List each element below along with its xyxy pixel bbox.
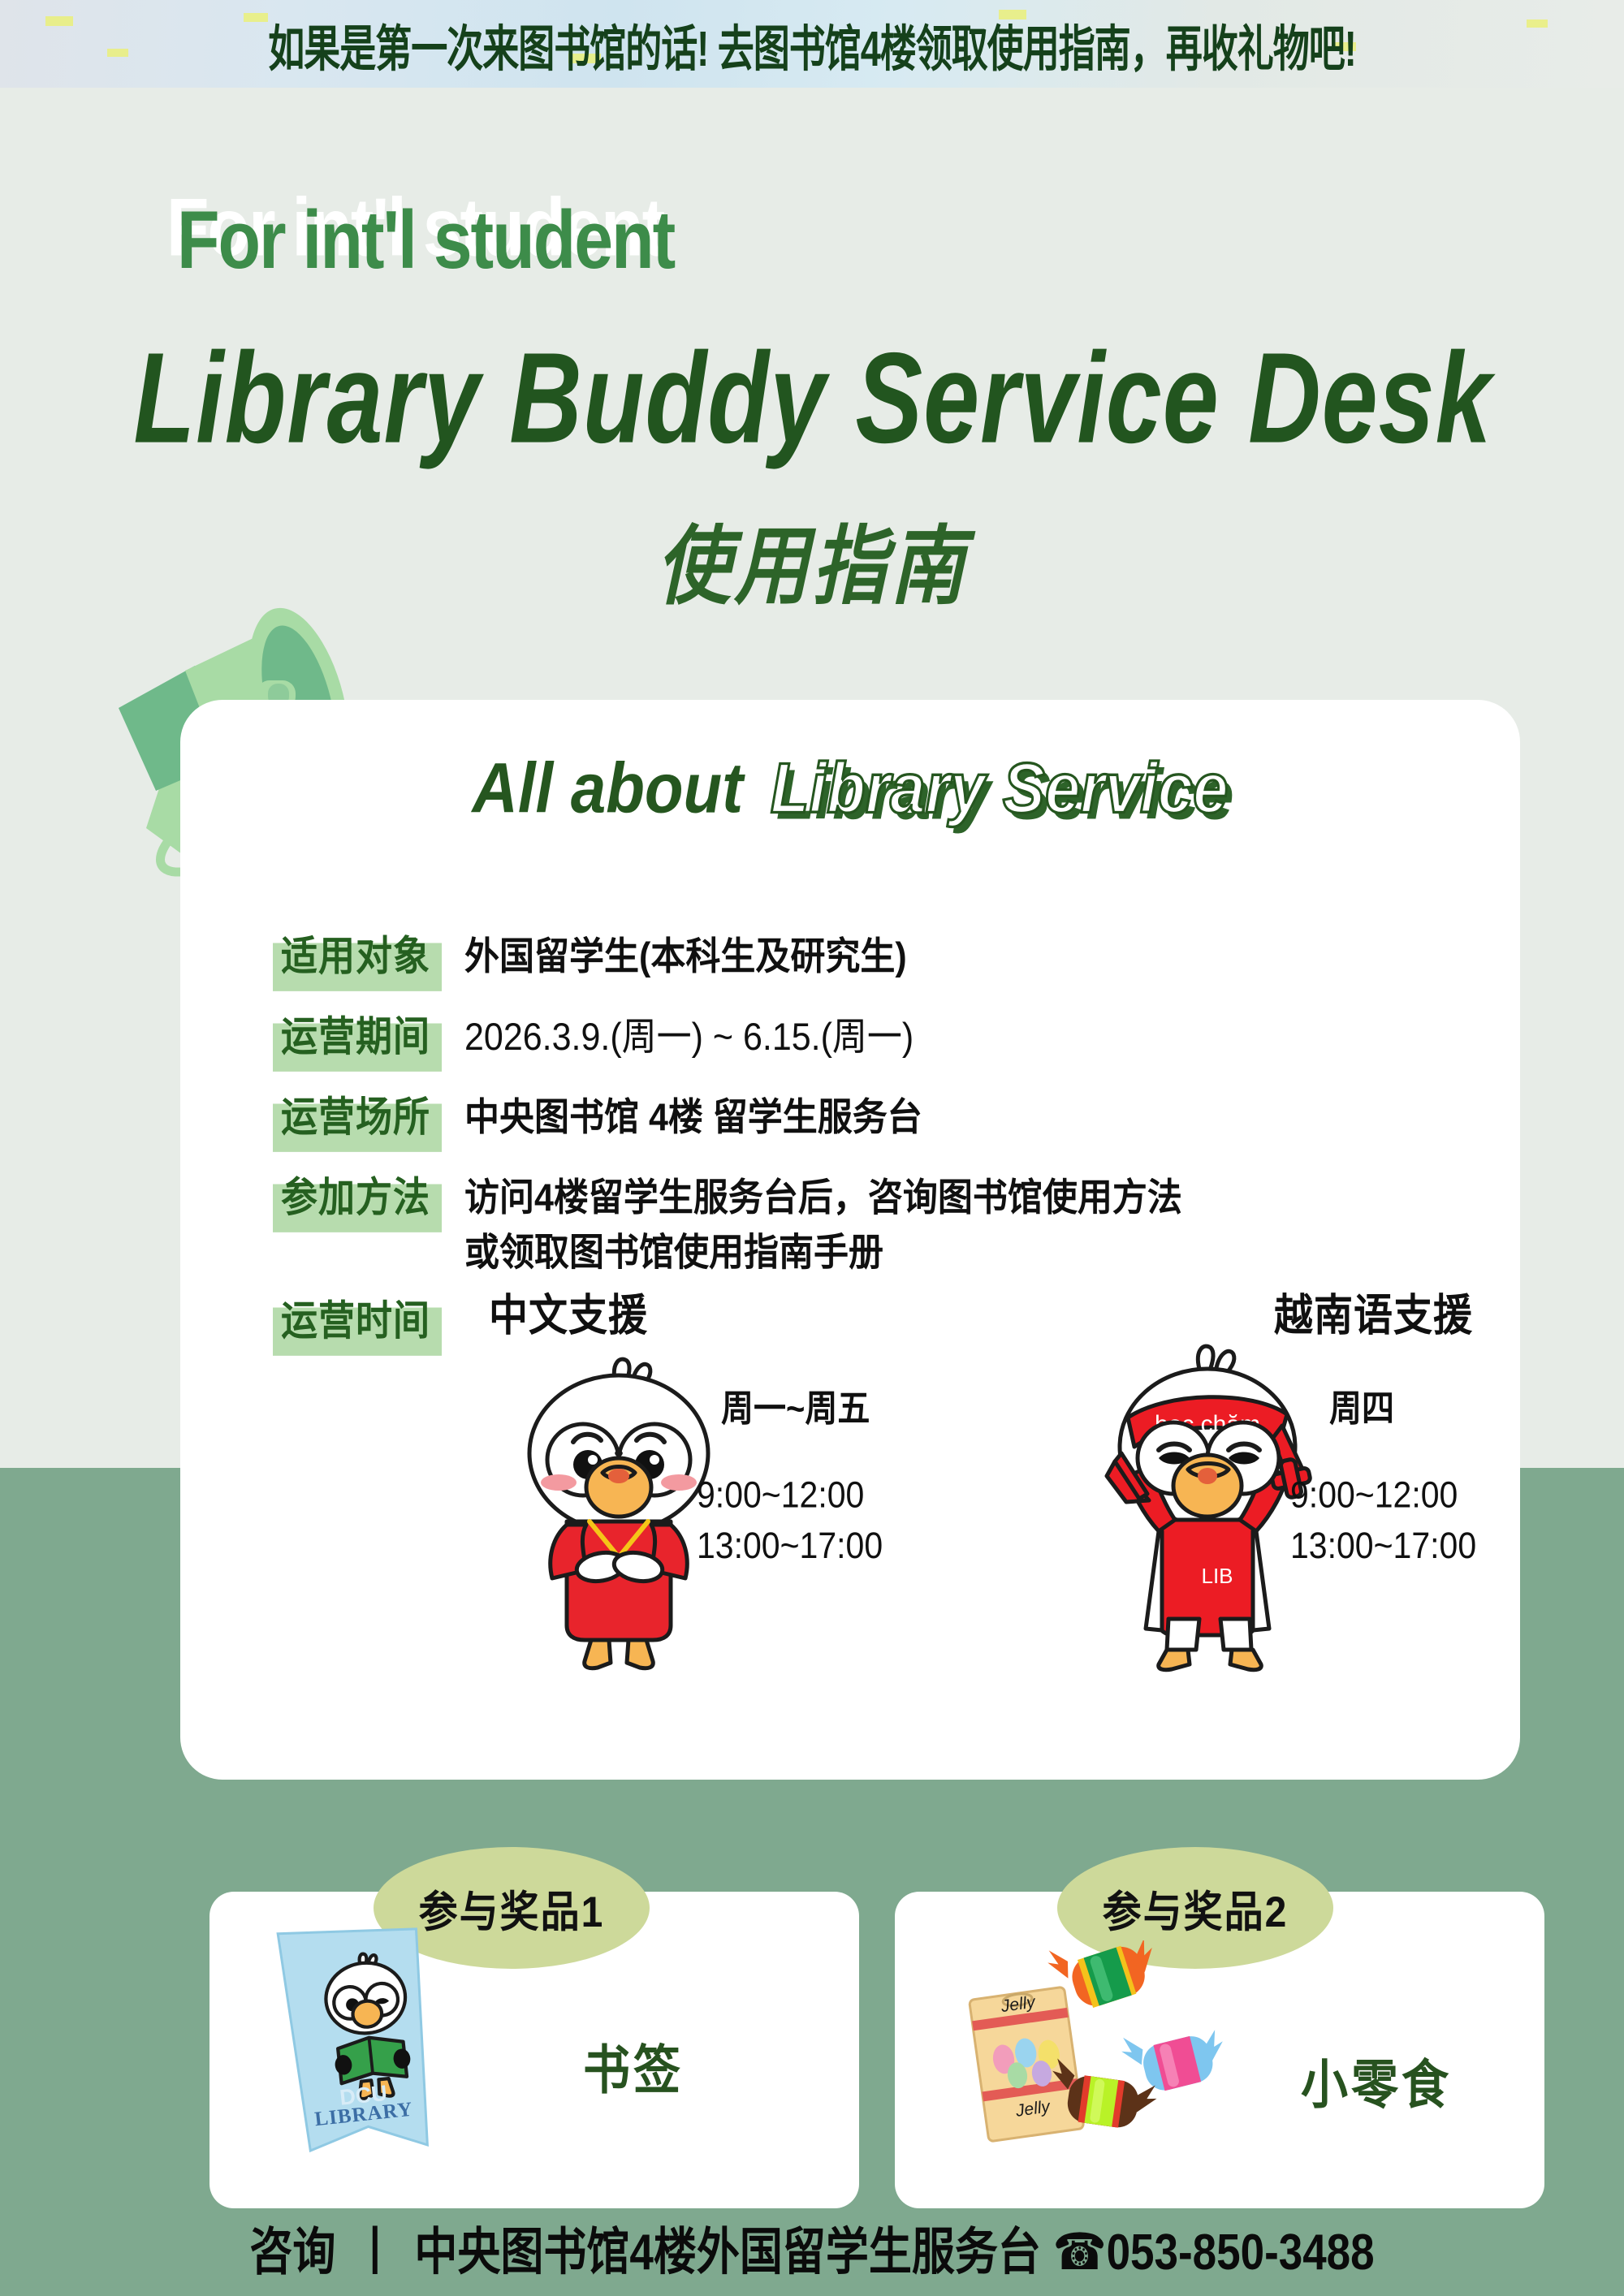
- prize-name-2: 小零食: [1301, 2042, 1452, 2118]
- footer-place: 中央图书馆4楼外国留学生服务台: [414, 2224, 1040, 2281]
- info-rows: 适用对象 外国留学生(本科生及研究生) 运营期间 2026.3.9.(周一) ~…: [278, 923, 1512, 1288]
- hours-times-vietnamese: 9:00~12:00 13:00~17:00: [1290, 1470, 1476, 1570]
- row-value-period: 2026.3.9.(周一) ~ 6.15.(周一): [437, 1003, 1512, 1065]
- footer-label: 咨询: [249, 2224, 335, 2281]
- footer-separator: 丨: [353, 2224, 396, 2281]
- page-kicker: For int'l student: [177, 193, 674, 288]
- row-value-method: 访问4楼留学生服务台后，咨询图书馆使用方法 或领取图书馆使用指南手册: [437, 1164, 1512, 1280]
- prize-card-2: 参与奖品2 Jelly Jelly: [895, 1892, 1544, 2208]
- candy-pink-icon: [1118, 2014, 1231, 2099]
- main-info-card: All about Library Service 适用对象 外国留学生(本科生…: [180, 700, 1520, 1780]
- info-row: 适用对象 外国留学生(本科生及研究生): [278, 923, 1512, 986]
- mascot-shirt-text: LIB: [1201, 1564, 1233, 1588]
- footer-contact: 咨询丨中央图书馆4楼外国留学生服务台 ☎053-850-3488: [0, 2212, 1624, 2285]
- hours-title-vietnamese: 越南语支援: [1274, 1280, 1473, 1343]
- jelly-pack-icon: Jelly Jelly: [970, 1987, 1084, 2142]
- bookmark-icon: DCU LIBRARY: [258, 1914, 461, 2190]
- hours-columns: 中文支援: [464, 1283, 1512, 1624]
- row-label-period: 运营期间: [278, 999, 437, 1069]
- row-label-venue: 运营场所: [278, 1080, 437, 1150]
- page-title: Library Buddy Service Desk: [37, 325, 1588, 473]
- hours-title-chinese: 中文支援: [489, 1280, 648, 1343]
- card-heading: All about Library Service: [180, 747, 1520, 830]
- hours-times-chinese: 9:00~12:00 13:00~17:00: [697, 1470, 883, 1570]
- row-label-method: 参加方法: [278, 1160, 437, 1230]
- hours-column-vietnamese: 越南语支援: [988, 1283, 1512, 1624]
- hours-days-vietnamese: 周四: [1329, 1379, 1394, 1432]
- prize-card-1: 参与奖品1: [209, 1892, 859, 2208]
- row-value-audience: 外国留学生(本科生及研究生): [437, 923, 1512, 985]
- footer-phone: ☎053-850-3488: [1053, 2224, 1375, 2281]
- info-row: 参加方法 访问4楼留学生服务台后，咨询图书馆使用方法 或领取图书馆使用指南手册: [278, 1164, 1512, 1270]
- row-label-audience: 适用对象: [278, 919, 437, 989]
- banner-text: 如果是第一次来图书馆的话! 去图书馆4楼领取使用指南，再收礼物吧!: [268, 8, 1356, 80]
- info-row: 运营期间 2026.3.9.(周一) ~ 6.15.(周一): [278, 1003, 1512, 1066]
- info-row: 运营场所 中央图书馆 4楼 留学生服务台: [278, 1084, 1512, 1146]
- prize-name-1: 书签: [583, 2027, 684, 2104]
- row-label-hours: 运营时间: [278, 1284, 437, 1353]
- card-heading-outline: Library Service: [771, 748, 1229, 828]
- poster-root: 如果是第一次来图书馆的话! 去图书馆4楼领取使用指南，再收礼物吧! For in…: [0, 0, 1624, 2296]
- row-value-venue: 中央图书馆 4楼 留学生服务台: [437, 1084, 1512, 1146]
- hours-column-chinese: 中文支援: [464, 1283, 988, 1624]
- top-banner: 如果是第一次来图书馆的话! 去图书馆4楼领取使用指南，再收礼物吧!: [0, 0, 1624, 88]
- snacks-icon: Jelly Jelly: [956, 1940, 1272, 2168]
- card-heading-green: All about: [473, 748, 744, 828]
- hours-days-chinese: 周一~周五: [721, 1379, 870, 1432]
